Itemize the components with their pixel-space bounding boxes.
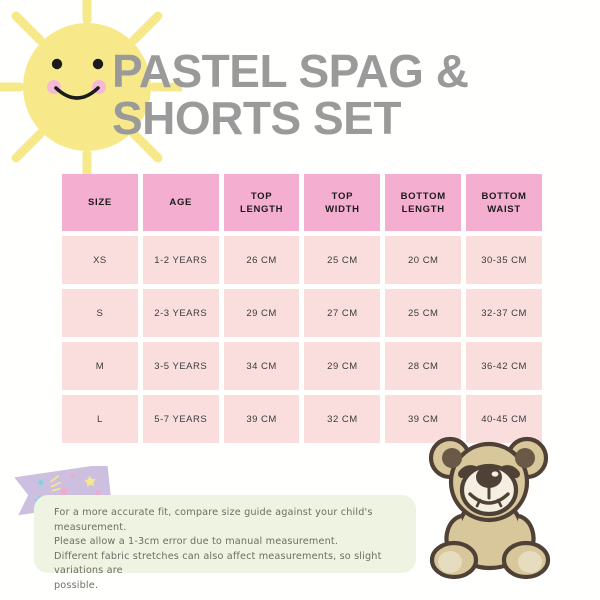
page-title-line-2: SHORTS SET (112, 95, 582, 142)
note-line-2: Please allow a 1-3cm error due to manual… (54, 535, 398, 550)
table-row: XS 1-2 YEARS 26 CM 25 CM 20 CM 30-35 CM (62, 236, 542, 284)
cell-bottom-waist: 36-42 CM (466, 342, 542, 390)
note-line-4: possible. (54, 579, 398, 594)
column-header-top-length: TOPLENGTH (224, 174, 300, 231)
note-line-3: Different fabric stretches can also affe… (54, 550, 398, 579)
teddy-bear-decoration (428, 432, 552, 587)
table-header-row: SIZE AGE TOPLENGTH TOPWIDTH BOTTOMLENGTH… (62, 174, 542, 231)
cell-top-width: 32 CM (304, 395, 380, 443)
page-title: PASTEL SPAG & SHORTS SET (112, 48, 582, 142)
cell-age: 5-7 YEARS (143, 395, 219, 443)
cell-top-width: 25 CM (304, 236, 380, 284)
measurement-note-box: For a more accurate fit, compare size gu… (34, 495, 416, 573)
cell-top-width: 29 CM (304, 342, 380, 390)
cell-size: S (62, 289, 138, 337)
cell-top-length: 26 CM (224, 236, 300, 284)
cell-age: 1-2 YEARS (143, 236, 219, 284)
cell-top-length: 39 CM (224, 395, 300, 443)
cell-bottom-length: 28 CM (385, 342, 461, 390)
cell-age: 2-3 YEARS (143, 289, 219, 337)
cell-size: L (62, 395, 138, 443)
column-header-bottom-waist: BOTTOMWAIST (466, 174, 542, 231)
column-header-top-width: TOPWIDTH (304, 174, 380, 231)
teddy-bear-icon (428, 432, 552, 587)
column-header-size: SIZE (62, 174, 138, 231)
size-chart-page: PASTEL SPAG & SHORTS SET SIZE AGE TOPLEN… (0, 0, 600, 600)
note-line-1: For a more accurate fit, compare size gu… (54, 506, 398, 535)
cell-top-length: 34 CM (224, 342, 300, 390)
table-row: S 2-3 YEARS 29 CM 27 CM 25 CM 32-37 CM (62, 289, 542, 337)
cell-age: 3-5 YEARS (143, 342, 219, 390)
cell-bottom-waist: 30-35 CM (466, 236, 542, 284)
cell-size: M (62, 342, 138, 390)
column-header-age: AGE (143, 174, 219, 231)
cell-bottom-waist: 32-37 CM (466, 289, 542, 337)
cell-top-length: 29 CM (224, 289, 300, 337)
cell-bottom-length: 25 CM (385, 289, 461, 337)
cell-top-width: 27 CM (304, 289, 380, 337)
size-chart-table: SIZE AGE TOPLENGTH TOPWIDTH BOTTOMLENGTH… (62, 174, 542, 443)
cell-size: XS (62, 236, 138, 284)
page-title-line-1: PASTEL SPAG & (112, 48, 582, 95)
cell-bottom-length: 20 CM (385, 236, 461, 284)
column-header-bottom-length: BOTTOMLENGTH (385, 174, 461, 231)
table-row: M 3-5 YEARS 34 CM 29 CM 28 CM 36-42 CM (62, 342, 542, 390)
